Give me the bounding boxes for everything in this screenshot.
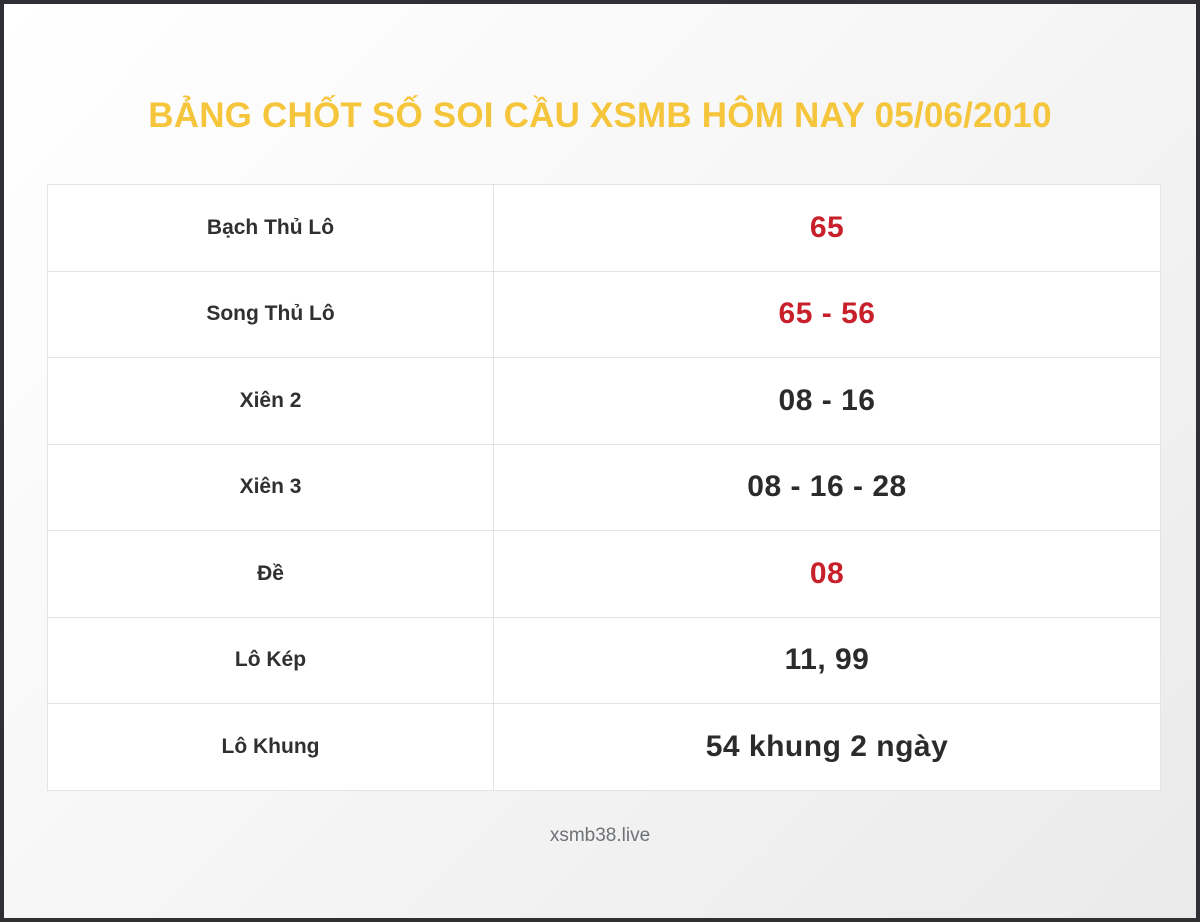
row-label: Đề	[48, 531, 494, 618]
table-row: Bạch Thủ Lô 65	[48, 185, 1161, 272]
row-label: Song Thủ Lô	[48, 271, 494, 358]
poster-card: BẢNG CHỐT SỐ SOI CẦU XSMB HÔM NAY 05/06/…	[4, 4, 1196, 918]
table-row: Xiên 3 08 - 16 - 28	[48, 444, 1161, 531]
row-value: 08	[494, 531, 1161, 618]
table-row: Đề 08	[48, 531, 1161, 618]
page-title: BẢNG CHỐT SỐ SOI CẦU XSMB HÔM NAY 05/06/…	[4, 98, 1196, 133]
row-label: Xiên 3	[48, 444, 494, 531]
table-row: Xiên 2 08 - 16	[48, 358, 1161, 445]
row-label: Lô Khung	[48, 704, 494, 791]
table-row: Song Thủ Lô 65 - 56	[48, 271, 1161, 358]
row-value: 08 - 16	[494, 358, 1161, 445]
row-value: 65	[494, 185, 1161, 272]
row-value: 08 - 16 - 28	[494, 444, 1161, 531]
site-watermark: xsmb38.live	[4, 826, 1196, 845]
row-value: 54 khung 2 ngày	[494, 704, 1161, 791]
row-value: 11, 99	[494, 617, 1161, 704]
row-label: Lô Kép	[48, 617, 494, 704]
soi-cau-table: Bạch Thủ Lô 65 Song Thủ Lô 65 - 56 Xiên …	[47, 184, 1161, 791]
row-label: Bạch Thủ Lô	[48, 185, 494, 272]
table-row: Lô Khung 54 khung 2 ngày	[48, 704, 1161, 791]
row-label: Xiên 2	[48, 358, 494, 445]
row-value: 65 - 56	[494, 271, 1161, 358]
table-row: Lô Kép 11, 99	[48, 617, 1161, 704]
table-body: Bạch Thủ Lô 65 Song Thủ Lô 65 - 56 Xiên …	[48, 185, 1161, 791]
